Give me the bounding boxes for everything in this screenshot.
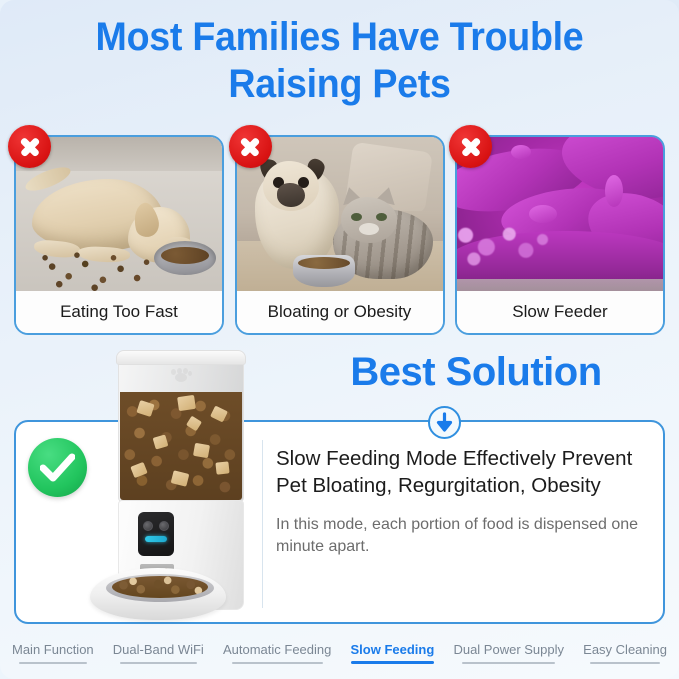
problem-photo-eating-too-fast [16, 137, 222, 295]
kibble-chunk [210, 406, 228, 423]
solution-text-block: Slow Feeding Mode Effectively Prevent Pe… [276, 445, 664, 558]
infographic-page: Most Families Have Trouble Raising Pets … [0, 0, 679, 679]
problem-card-label: Slow Feeder [457, 291, 663, 333]
kibble-chunk [193, 443, 210, 458]
kibble-chunk [130, 462, 147, 478]
problem-photo-slow-feeder [457, 137, 663, 295]
x-mark-icon [229, 125, 272, 168]
x-mark-icon [449, 125, 492, 168]
solution-subtitle: In this mode, each portion of food is di… [276, 514, 664, 558]
page-title-line-2: Raising Pets [20, 61, 658, 108]
metal-food-bowl [293, 255, 355, 287]
cat-head [341, 197, 397, 243]
problem-card-slow-feeder: Slow Feeder [455, 135, 665, 335]
problem-card-bloating-or-obesity: Bloating or Obesity [235, 135, 445, 335]
feeder-control-panel [138, 512, 174, 556]
problem-card-label: Eating Too Fast [16, 291, 222, 333]
slow-feeder-knob [605, 175, 623, 207]
page-title: Most Families Have Trouble Raising Pets [20, 14, 658, 108]
feeder-button [143, 521, 153, 531]
hopper-kibble [120, 392, 242, 500]
slow-feeder-knob [511, 145, 531, 159]
kibble-chunk [171, 470, 190, 486]
feeder-led-indicator [145, 536, 167, 542]
cat-eye [376, 213, 387, 221]
feature-tab-bar: Main Function Dual-Band WiFi Automatic F… [0, 633, 679, 679]
check-circle-icon [28, 438, 87, 497]
solution-heading: Best Solution [286, 352, 666, 392]
tab-slow-feeding[interactable]: Slow Feeding [351, 642, 435, 664]
tab-dual-power-supply[interactable]: Dual Power Supply [453, 642, 564, 664]
problem-cards-row: Eating Too Fast [0, 135, 679, 340]
feeder-button [159, 521, 169, 531]
chewed-damage [457, 219, 555, 273]
kibble-chunk [177, 395, 196, 411]
feeder-lid [116, 350, 246, 365]
product-image-pet-feeder [96, 352, 268, 620]
spilled-kibble [38, 249, 156, 293]
tab-dual-band-wifi[interactable]: Dual-Band WiFi [113, 642, 204, 664]
kibble-chunk [215, 461, 229, 474]
solution-title: Slow Feeding Mode Effectively Prevent Pe… [276, 445, 664, 500]
kibble-chunk [153, 434, 169, 449]
paw-print-icon [170, 368, 192, 382]
tab-main-function[interactable]: Main Function [12, 642, 94, 664]
metal-food-bowl [154, 241, 216, 275]
page-title-line-1: Most Families Have Trouble [20, 14, 658, 61]
brand-paw-logo-icon [154, 368, 208, 394]
arrow-down-circle-icon [428, 406, 461, 439]
cat-eye [351, 213, 362, 221]
problem-card-eating-too-fast: Eating Too Fast [14, 135, 224, 335]
kibble-chunk [136, 400, 154, 417]
cat-muzzle [359, 223, 379, 235]
x-mark-icon [8, 125, 51, 168]
tab-automatic-feeding[interactable]: Automatic Feeding [223, 642, 331, 664]
bowl-kibble [112, 576, 208, 598]
kibble-chunk [186, 416, 202, 432]
pug-muzzle [277, 183, 305, 207]
problem-photo-bloating-or-obesity [237, 137, 443, 295]
tab-easy-cleaning[interactable]: Easy Cleaning [583, 642, 667, 664]
problem-card-label: Bloating or Obesity [237, 291, 443, 333]
